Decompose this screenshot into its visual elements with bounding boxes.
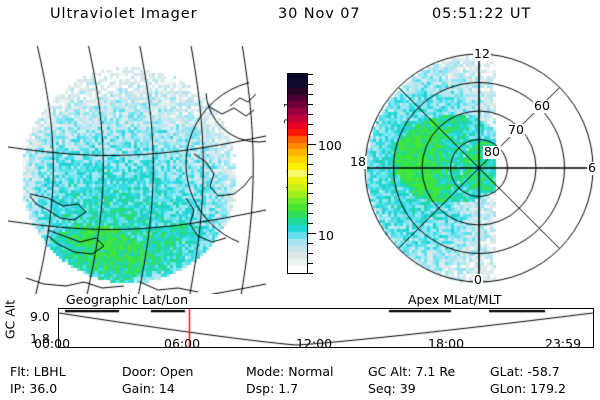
colorbar-tick (307, 174, 313, 175)
colorbar-tick (307, 273, 313, 274)
orbit-xtick-1: 06:00 (164, 338, 200, 351)
observation-date: 30 Nov 07 (278, 6, 361, 22)
orbit-altitude-panel[interactable]: Geographic Lat/Lon Apex MLat/MLT GC Alt … (0, 294, 600, 356)
colorbar-gradient-box (287, 73, 308, 274)
colorbar-tick (307, 74, 313, 75)
colorbar-tick (307, 84, 313, 85)
mlt-label-18: 18 (349, 156, 367, 169)
orbit-xtick-4: 23:59 (545, 338, 581, 351)
status-gcalt: GC Alt: 7.1 Re (368, 366, 455, 379)
colorbar-tick (307, 253, 313, 254)
colorbar-label-10: 10 (318, 230, 334, 243)
mlat-label-60: 60 (533, 100, 551, 113)
status-footer: Flt: LBHLDoor: OpenMode: NormalGC Alt: 7… (0, 362, 600, 400)
colorbar-tick (307, 154, 313, 155)
colorbar-tick (307, 124, 313, 125)
status-ip: IP: 36.0 (10, 383, 57, 396)
colorbar-tick (307, 134, 313, 135)
colorbar-label-100: 100 (318, 140, 342, 153)
colorbar-tick (307, 104, 313, 105)
colorbar-gradient (288, 74, 307, 273)
colorbar-tick (307, 193, 313, 194)
colorbar-tick (307, 114, 313, 115)
colorbar-tick (307, 164, 313, 165)
status-glon: GLon: 179.2 (490, 383, 566, 396)
geographic-plot-title: Geographic Lat/Lon (66, 292, 188, 307)
colorbar-tick (307, 233, 316, 234)
status-door: Door: Open (122, 366, 193, 379)
instrument-title: Ultraviolet Imager (50, 6, 197, 22)
orbit-xtick-2: 12:00 (296, 338, 332, 351)
colorbar-tick (307, 243, 313, 244)
geographic-aurora-canvas[interactable] (8, 46, 266, 294)
status-mode: Mode: Normal (246, 366, 333, 379)
status-dsp: Dsp: 1.7 (246, 383, 298, 396)
status-seq: Seq: 39 (368, 383, 416, 396)
status-glat: GLat: -58.7 (490, 366, 560, 379)
orbit-xtick-3: 18:00 (428, 338, 464, 351)
polar-plot-panel[interactable]: 12 6 0 18 60 70 80 (355, 46, 600, 294)
polar-plot-title: Apex MLat/MLT (408, 292, 502, 307)
colorbar-tick (307, 183, 313, 184)
orbit-xtick-0: 00:00 (34, 338, 70, 351)
colorbar-tick (307, 94, 313, 95)
orbit-ytick-top: 9.0 (30, 311, 50, 324)
status-flt: Flt: LBHL (10, 366, 66, 379)
colorbar-tick (307, 263, 313, 264)
colorbar-tick (307, 213, 313, 214)
colorbar-tick (307, 223, 313, 224)
mlat-label-70: 70 (507, 124, 525, 137)
mlt-label-0: 0 (473, 274, 483, 287)
header-bar: Ultraviolet Imager 30 Nov 07 05:51:22 UT (0, 4, 600, 30)
observation-time: 05:51:22 UT (432, 6, 531, 22)
geographic-image-panel[interactable] (8, 46, 266, 294)
mlt-label-12: 12 (473, 48, 491, 61)
polar-aurora-canvas[interactable] (355, 46, 600, 294)
colorbar-tick (307, 144, 316, 145)
colorbar-tick (307, 203, 313, 204)
mlt-label-6: 6 (587, 162, 597, 175)
mlat-label-80: 80 (483, 146, 501, 159)
orbit-y-axis-label: GC Alt (3, 297, 18, 343)
status-gain: Gain: 14 (122, 383, 175, 396)
